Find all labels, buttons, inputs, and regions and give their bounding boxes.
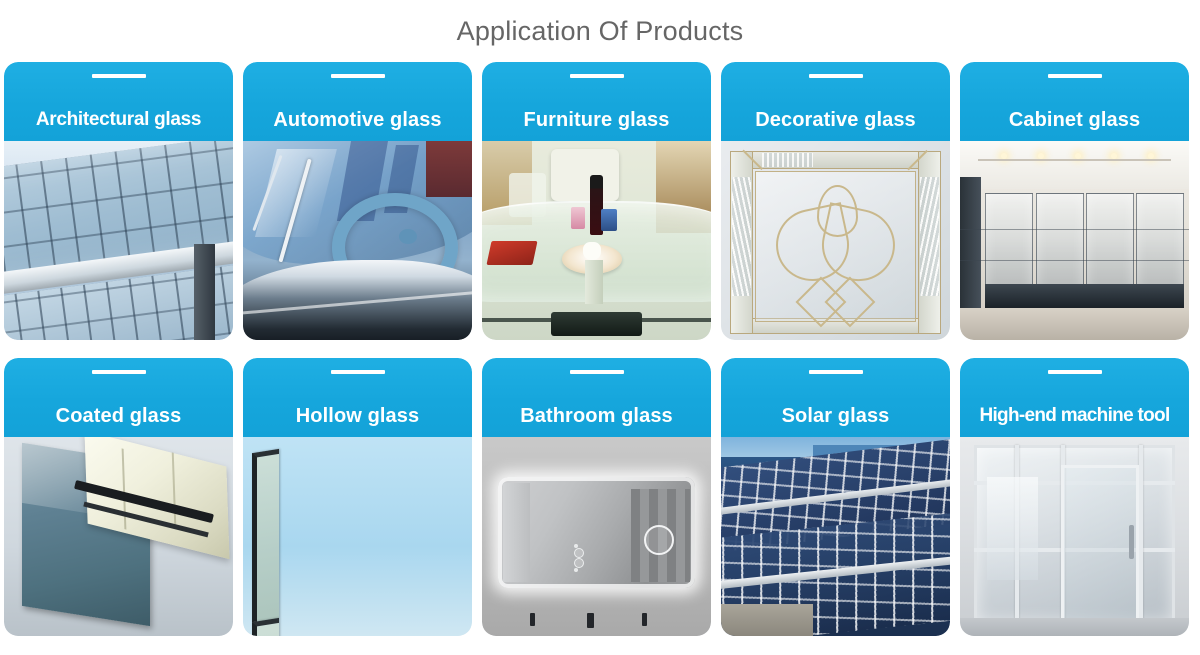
header-divider-bar [331,74,385,78]
card-header: Decorative glass [721,62,950,141]
card-header: Hollow glass [243,358,472,437]
header-divider-bar [1048,370,1102,374]
product-card-architectural-glass[interactable]: Architectural glass [4,62,233,340]
card-header: Architectural glass [4,62,233,141]
card-image-hollow-glass [243,437,472,636]
card-title: Automotive glass [273,108,441,132]
card-image-furniture-glass [482,141,711,340]
header-divider-bar [809,74,863,78]
card-header: Cabinet glass [960,62,1189,141]
card-image-coated-glass [4,437,233,636]
card-image-cabinet-glass [960,141,1189,340]
card-title: Furniture glass [524,108,670,132]
header-divider-bar [570,74,624,78]
card-image-architectural-glass [4,141,233,340]
card-image-solar-glass [721,437,950,636]
card-image-bathroom-glass [482,437,711,636]
product-card-furniture-glass[interactable]: Furniture glass [482,62,711,340]
product-card-automotive-glass[interactable]: Automotive glass [243,62,472,340]
card-title: Decorative glass [755,108,916,132]
card-header: Automotive glass [243,62,472,141]
card-header: Coated glass [4,358,233,437]
product-card-high-end-machine-tool[interactable]: High-end machine tool [960,358,1189,636]
header-divider-bar [331,370,385,374]
mirror-touch-button [644,525,674,555]
card-title: Architectural glass [36,108,201,132]
card-image-decorative-glass [721,141,950,340]
product-card-solar-glass[interactable]: Solar glass [721,358,950,636]
product-card-hollow-glass[interactable]: Hollow glass [243,358,472,636]
header-divider-bar [809,370,863,374]
card-title: Bathroom glass [520,404,673,428]
application-of-products-page: Application Of Products Architectural gl… [0,0,1200,655]
header-divider-bar [570,370,624,374]
page-title: Application Of Products [0,14,1200,48]
card-title: Hollow glass [296,404,419,428]
card-title: Coated glass [56,404,182,428]
header-divider-bar [92,74,146,78]
card-header: Solar glass [721,358,950,437]
card-title: Cabinet glass [1009,108,1140,132]
product-card-coated-glass[interactable]: Coated glass [4,358,233,636]
card-title: Solar glass [782,404,890,428]
card-image-automotive-glass [243,141,472,340]
product-card-grid: Architectural glass Automotive glass [4,62,1196,636]
card-header: Bathroom glass [482,358,711,437]
header-divider-bar [1048,74,1102,78]
product-card-decorative-glass[interactable]: Decorative glass [721,62,950,340]
card-header: High-end machine tool [960,358,1189,437]
product-card-bathroom-glass[interactable]: Bathroom glass [482,358,711,636]
card-header: Furniture glass [482,62,711,141]
header-divider-bar [92,370,146,374]
card-title: High-end machine tool [979,404,1169,428]
card-image-high-end-machine-tool [960,437,1189,636]
product-card-cabinet-glass[interactable]: Cabinet glass [960,62,1189,340]
